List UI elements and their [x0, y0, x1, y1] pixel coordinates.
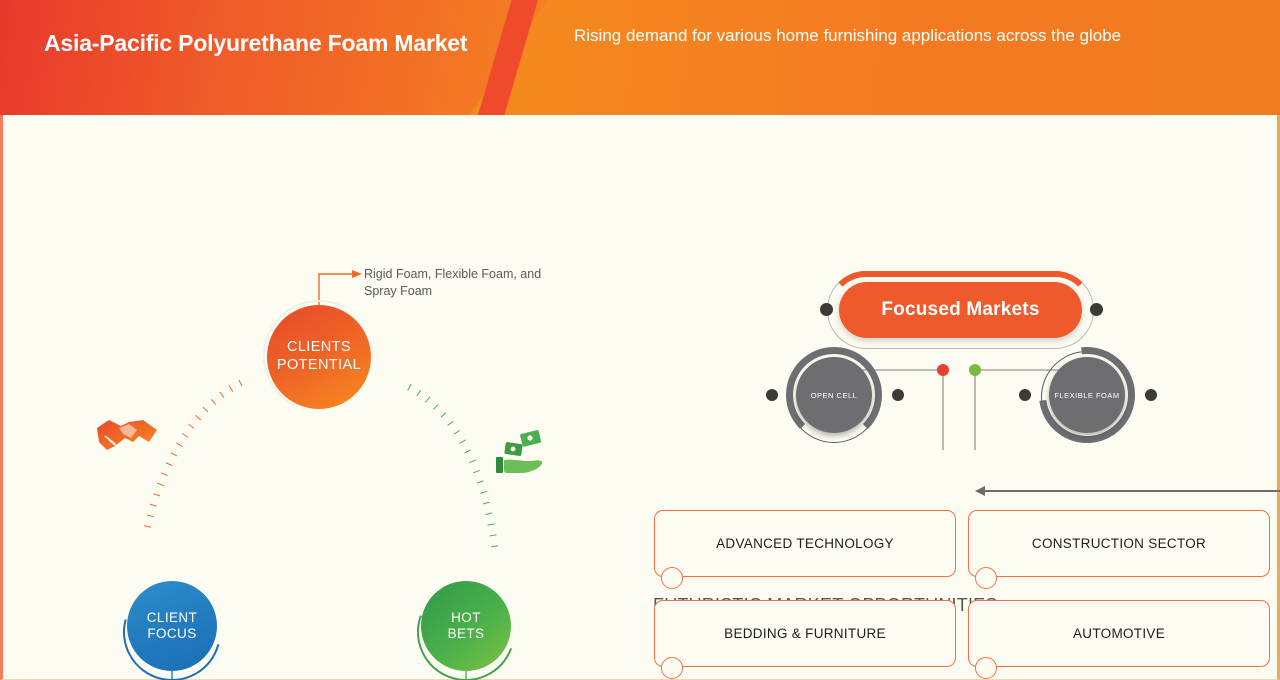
focused-markets-right-dot	[1090, 303, 1103, 316]
page-subtitle: Rising demand for various home furnishin…	[574, 24, 1224, 48]
node-hot-bets[interactable]: HOT BETS	[421, 581, 511, 671]
opportunity-knob-construction-sector	[975, 567, 997, 589]
node-client-focus[interactable]: CLIENT FOCUS	[127, 581, 217, 671]
open-cell-label: OPEN CELL	[796, 357, 872, 433]
open-cell-right-dot	[892, 389, 904, 401]
opportunities-arrowhead	[975, 486, 985, 496]
hot-bets-label-line1: HOT	[448, 610, 485, 626]
opportunity-box-bedding-furniture[interactable]: BEDDING & FURNITURE	[654, 600, 956, 667]
open-cell-left-dot	[766, 389, 778, 401]
focused-markets-left-dot	[820, 303, 833, 316]
page-title: Asia-Pacific Polyurethane Foam Market	[44, 28, 474, 58]
opportunity-box-construction-sector[interactable]: CONSTRUCTION SECTOR	[968, 510, 1270, 577]
client-focus-label-line1: CLIENT	[147, 610, 197, 626]
clients-potential-label-line1: CLIENTS	[277, 339, 361, 357]
signal-dot-red	[937, 364, 949, 376]
open-cell-group[interactable]: OPEN CELL	[786, 347, 882, 443]
signal-dot-green	[969, 364, 981, 376]
flexible-foam-label: FLEXIBLE FOAM	[1049, 357, 1125, 433]
clients-potential-label-line2: POTENTIAL	[277, 357, 361, 375]
flexible-foam-left-dot	[1019, 389, 1031, 401]
focused-markets-button[interactable]: Focused Markets	[839, 282, 1082, 338]
header-right-background	[470, 0, 1280, 115]
opportunity-box-advanced-technology[interactable]: ADVANCED TECHNOLOGY	[654, 510, 956, 577]
opportunity-knob-advanced-technology	[661, 567, 683, 589]
client-focus-label-line2: FOCUS	[147, 626, 197, 642]
opportunity-box-automotive[interactable]: AUTOMOTIVE	[968, 600, 1270, 667]
flexible-foam-right-dot	[1145, 389, 1157, 401]
infographic-root: Asia-Pacific Polyurethane Foam Market Ri…	[0, 0, 1280, 680]
hot-bets-label-line2: BETS	[448, 626, 485, 642]
flexible-foam-group[interactable]: FLEXIBLE FOAM	[1039, 347, 1135, 443]
opportunity-knob-bedding-furniture	[661, 657, 683, 679]
focused-markets-group: Focused Markets	[813, 275, 1108, 345]
opportunity-knob-automotive	[975, 657, 997, 679]
node-clients-potential[interactable]: CLIENTS POTENTIAL	[267, 305, 371, 409]
header-banner: Asia-Pacific Polyurethane Foam Market Ri…	[0, 0, 1280, 115]
body-panel: CLIENTS POTENTIAL Rigid Foam, Flexible F…	[0, 115, 1280, 680]
